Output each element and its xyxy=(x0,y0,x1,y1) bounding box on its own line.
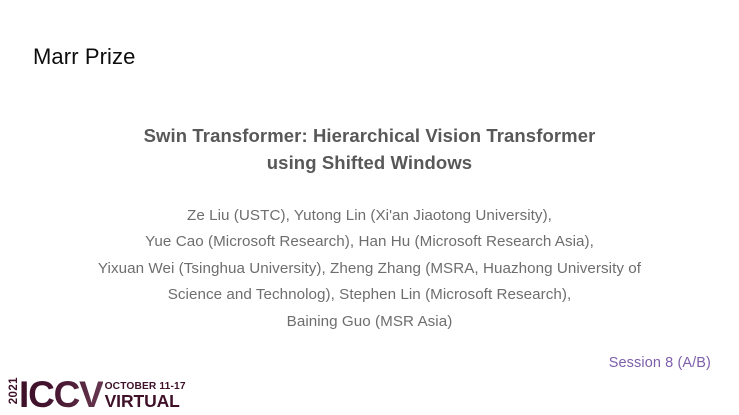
paper-title-line-1: Swin Transformer: Hierarchical Vision Tr… xyxy=(0,122,739,149)
logo-mode-label: VIRTUAL xyxy=(105,392,186,410)
author-line-2: Yue Cao (Microsoft Research), Han Hu (Mi… xyxy=(0,229,739,255)
author-line-5: Baining Guo (MSR Asia) xyxy=(0,309,739,335)
logo-wordmark: ICCV xyxy=(19,378,103,412)
logo-year-label: 2021 xyxy=(9,391,21,404)
award-label: Marr Prize xyxy=(33,43,135,71)
logo-tagline: OCTOBER 11-17 VIRTUAL xyxy=(105,381,186,412)
author-list: Ze Liu (USTC), Yutong Lin (Xi'an Jiaoton… xyxy=(0,203,739,335)
author-line-4: Science and Technolog), Stephen Lin (Mic… xyxy=(0,282,739,308)
author-line-1: Ze Liu (USTC), Yutong Lin (Xi'an Jiaoton… xyxy=(0,203,739,229)
session-tag: Session 8 (A/B) xyxy=(609,355,711,371)
paper-title-line-2: using Shifted Windows xyxy=(0,149,739,176)
presentation-slide: Marr Prize Swin Transformer: Hierarchica… xyxy=(0,0,739,415)
paper-title: Swin Transformer: Hierarchical Vision Tr… xyxy=(0,122,739,176)
iccv-logo: 2021 ICCV OCTOBER 11-17 VIRTUAL xyxy=(8,368,186,412)
author-line-3: Yixuan Wei (Tsinghua University), Zheng … xyxy=(0,256,739,282)
